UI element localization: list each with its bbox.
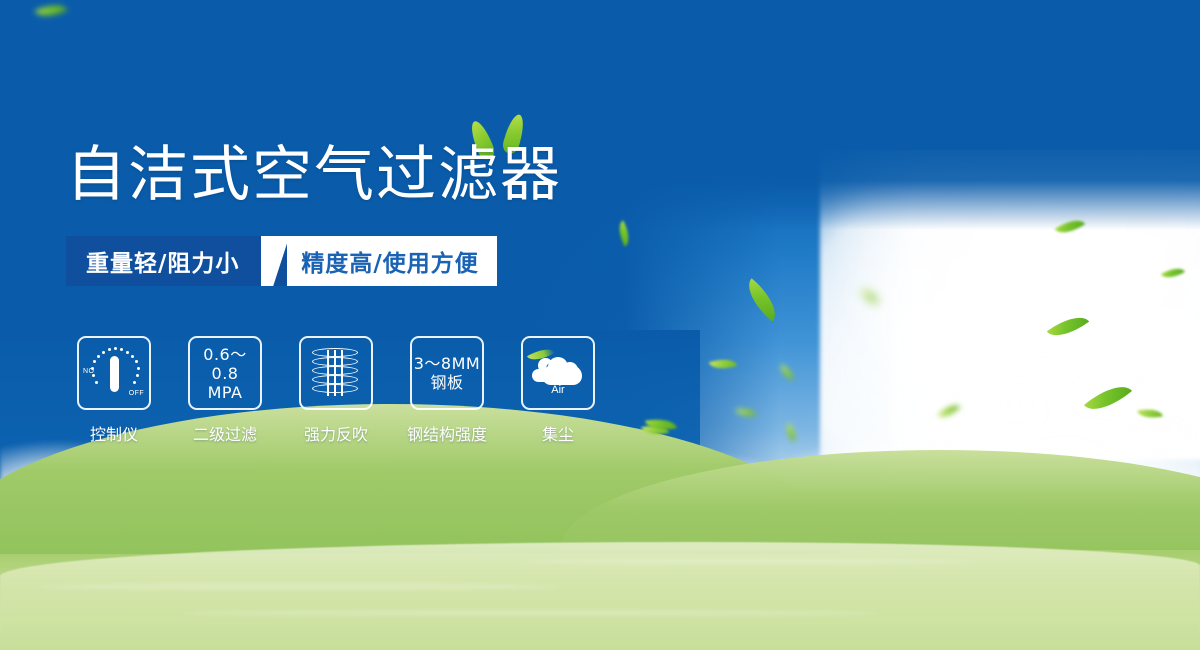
feature-label-steel: 钢结构强度: [407, 421, 487, 445]
coil-icon: [312, 347, 360, 399]
subtitle-tag: 重量轻/阻力小 精度高/使用方便: [66, 236, 497, 286]
feature-label-filter: 二级过滤: [193, 421, 257, 445]
feature-label-dust: 集尘: [542, 421, 574, 445]
subtitle-right-segment: 精度高/使用方便: [287, 236, 496, 286]
pressure-value-line1: 0.6～0.8: [190, 345, 260, 383]
feature-label-blowback: 强力反吹: [304, 421, 368, 445]
feature-box-control: NO OFF: [77, 336, 151, 410]
grass-foreground-path: [0, 542, 1200, 650]
page-title: 自洁式空气过滤器: [66, 140, 562, 210]
gauge-off-label: OFF: [129, 390, 144, 397]
feature-item-filter[interactable]: 0.6～0.8 MPA 二级过滤: [177, 336, 273, 445]
feature-box-filter: 0.6～0.8 MPA: [188, 336, 262, 410]
cloud-air-icon: Air: [530, 353, 586, 393]
air-label: Air: [530, 384, 586, 396]
promo-banner: 自洁式空气过滤器 重量轻/阻力小 精度高/使用方便: [0, 0, 1200, 650]
subtitle-divider-slash: [261, 236, 287, 286]
feature-box-dust: Air: [521, 336, 595, 410]
feature-box-steel: 3～8MM 钢板: [410, 336, 484, 410]
gauge-needle: [110, 356, 119, 392]
feature-item-blowback[interactable]: 强力反吹: [288, 336, 384, 445]
feature-list: NO OFF 控制仪 0.6～0.8 MPA 二级过滤: [66, 336, 621, 445]
feature-item-dust[interactable]: Air 集尘: [510, 336, 606, 445]
grass-stripe: [520, 559, 980, 564]
gauge-on-label: NO: [83, 368, 94, 375]
feature-label-control: 控制仪: [90, 421, 138, 445]
grass-stripe: [180, 610, 880, 616]
feature-item-steel[interactable]: 3～8MM 钢板 钢结构强度: [399, 336, 495, 445]
steel-value-line1: 3～8MM: [414, 354, 480, 373]
grass-stripe: [40, 583, 560, 590]
feature-item-control[interactable]: NO OFF 控制仪: [66, 336, 162, 445]
pressure-value-line2: MPA: [208, 383, 243, 402]
cloud-body: [542, 365, 582, 385]
feature-box-blowback: [299, 336, 373, 410]
gauge-icon: NO OFF: [83, 345, 145, 401]
steel-value-line2: 钢板: [430, 373, 463, 392]
subtitle-left-segment: 重量轻/阻力小: [66, 236, 261, 286]
